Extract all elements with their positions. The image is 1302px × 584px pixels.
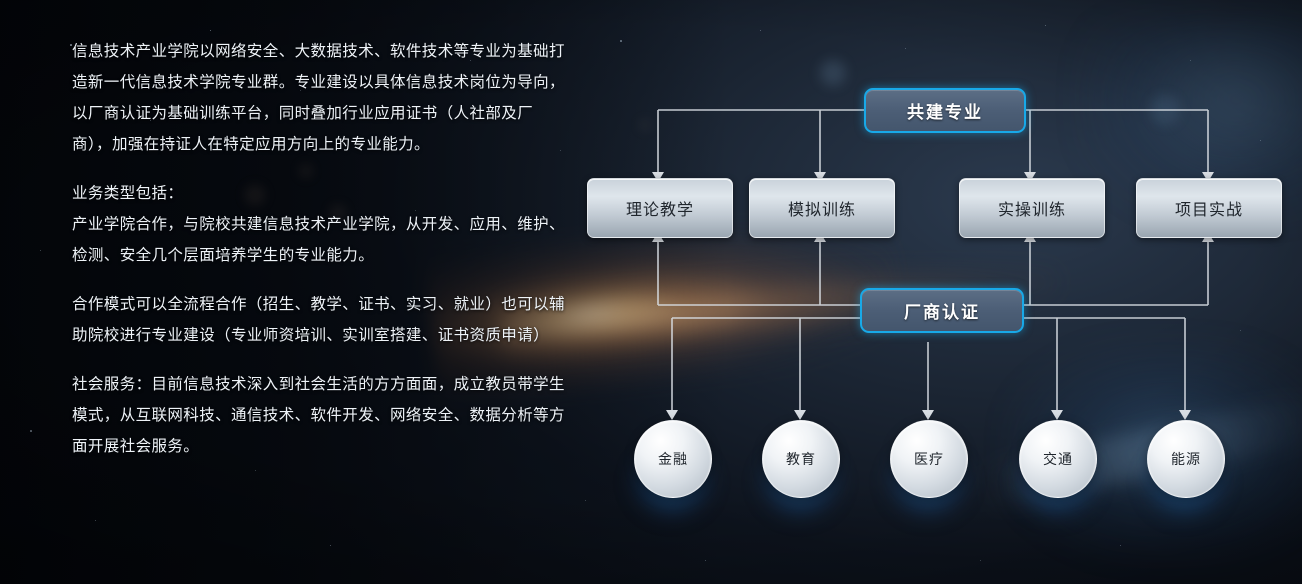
badge-joint-major-label: 共建专业 (907, 98, 983, 123)
node-project-practice-label: 项目实战 (1175, 196, 1243, 220)
arrow-to-finance (666, 410, 678, 420)
badge-vendor-certification-label: 厂商认证 (904, 298, 980, 323)
node-finance-label: 金融 (658, 449, 688, 469)
arrow-to-transport (1051, 410, 1063, 420)
arrow-to-education (794, 410, 806, 420)
badge-vendor-certification[interactable]: 厂商认证 (860, 288, 1024, 333)
node-theory-teaching-label: 理论教学 (626, 196, 694, 220)
node-energy[interactable]: 能源 (1147, 420, 1225, 498)
node-education-label: 教育 (786, 449, 816, 469)
node-simulation-training[interactable]: 模拟训练 (749, 178, 895, 238)
node-education[interactable]: 教育 (762, 420, 840, 498)
node-transport-label: 交通 (1043, 449, 1073, 469)
node-theory-teaching[interactable]: 理论教学 (587, 178, 733, 238)
node-transport[interactable]: 交通 (1019, 420, 1097, 498)
node-energy-label: 能源 (1171, 449, 1201, 469)
node-finance[interactable]: 金融 (634, 420, 712, 498)
node-practical-training-label: 实操训练 (998, 196, 1066, 220)
badge-joint-major[interactable]: 共建专业 (864, 88, 1026, 133)
node-medical[interactable]: 医疗 (890, 420, 968, 498)
node-practical-training[interactable]: 实操训练 (959, 178, 1105, 238)
node-medical-label: 医疗 (914, 449, 944, 469)
node-simulation-training-label: 模拟训练 (788, 196, 856, 220)
flow-diagram: 共建专业 厂商认证 理论教学 模拟训练 实操训练 项目实战 金融 教育 (0, 0, 1302, 584)
infographic-canvas: 信息技术产业学院以网络安全、大数据技术、软件技术等专业为基础打造新一代信息技术学… (0, 0, 1302, 584)
arrow-to-energy (1179, 410, 1191, 420)
node-project-practice[interactable]: 项目实战 (1136, 178, 1282, 238)
arrow-to-medical (922, 410, 934, 420)
